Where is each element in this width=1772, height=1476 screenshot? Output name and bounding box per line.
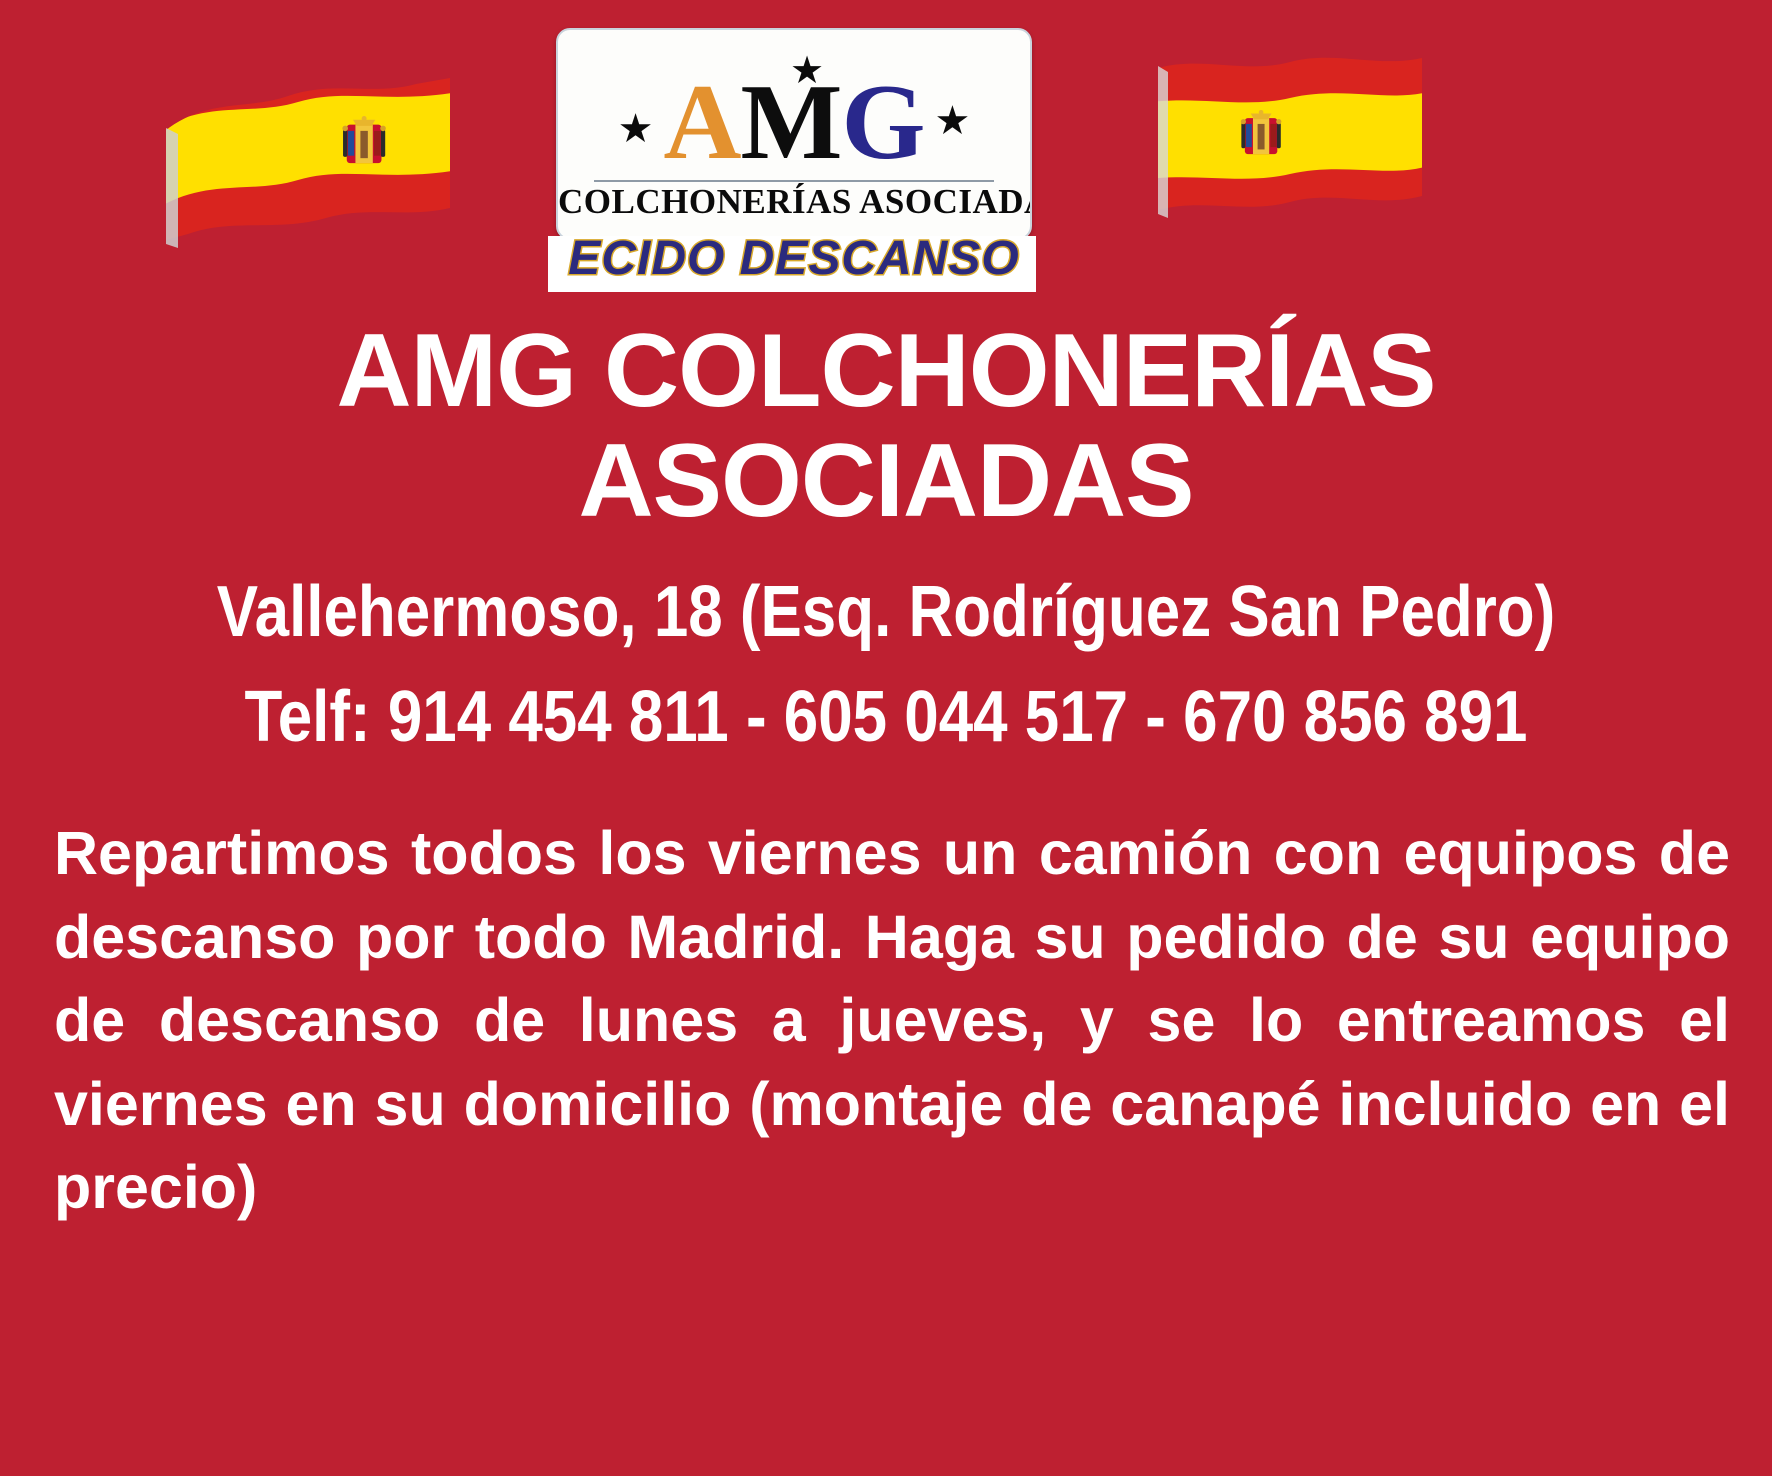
logo-subtitle: COLCHONERÍAS ASOCIADAS <box>558 182 1030 222</box>
amg-wordmark: AMG <box>664 69 925 177</box>
spain-flag-right-icon <box>1128 48 1428 263</box>
amg-wordmark-row: ★ AMG ★ <box>558 64 1030 182</box>
star-right-icon: ★ <box>934 101 970 141</box>
advertisement-flyer: ★ ★ AMG ★ COLCHONERÍAS ASOCIADAS ECIDO D… <box>0 0 1772 1476</box>
page-title: AMG COLCHONERÍAS ASOCIADAS <box>0 316 1772 536</box>
address-line: Vallehermoso, 18 (Esq. Rodríguez San Ped… <box>124 560 1648 665</box>
amg-logo-card: ★ ★ AMG ★ COLCHONERÍAS ASOCIADAS <box>556 28 1032 240</box>
spain-flag-left-icon <box>158 58 458 273</box>
logo-letter-a: A <box>664 69 741 177</box>
headline-line-1: AMG COLCHONERÍAS <box>0 316 1772 426</box>
promo-paragraph-text: Repartimos todos los viernes un camión c… <box>54 812 1730 1313</box>
logo-letter-m: M <box>741 69 842 177</box>
contact-block: Vallehermoso, 18 (Esq. Rodríguez San Ped… <box>0 560 1772 770</box>
promo-paragraph: Repartimos todos los viernes un camión c… <box>54 812 1730 1313</box>
phone-line: Telf: 914 454 811 - 605 044 517 - 670 85… <box>124 665 1648 770</box>
descanso-banner: ECIDO DESCANSO <box>548 236 1036 292</box>
headline-line-2: ASOCIADAS <box>0 426 1772 536</box>
star-left-icon: ★ <box>618 109 654 149</box>
logo-letter-g: G <box>841 69 924 177</box>
header-band: ★ ★ AMG ★ COLCHONERÍAS ASOCIADAS ECIDO D… <box>0 0 1772 292</box>
descanso-banner-text: ECIDO DESCANSO <box>568 236 1019 286</box>
